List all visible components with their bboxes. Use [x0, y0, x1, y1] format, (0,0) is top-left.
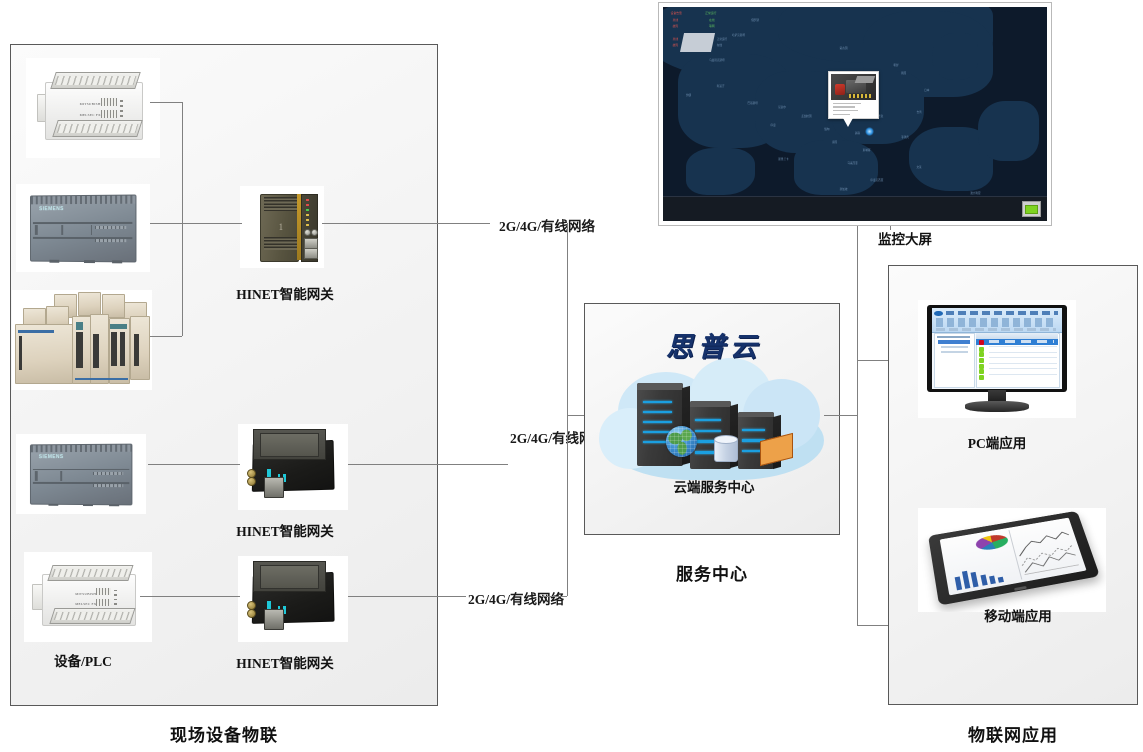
group-field-devices-caption: 现场设备物联 — [134, 721, 314, 746]
plc-mitsubishi-bottom: MITSUBISHI MELSEC FX3u-32MR — [24, 552, 152, 642]
plc-siemens-bottom: SIEMENS — [16, 434, 146, 514]
wall-map-label-19: 孟加拉国 — [801, 114, 811, 118]
diagram-canvas: 现场设备物联 MITSUBISHI MELSEC FX3u-32MR SIEME… — [0, 0, 1143, 752]
wall-map-label-0: 俄罗斯 — [751, 18, 759, 22]
wall-status-icon[interactable] — [1022, 201, 1041, 217]
wall-map-label-17: 伊朗 — [686, 93, 691, 97]
monitor-wall-screen[interactable]: 设备告警 离线 故障 正常运行 在线 联网 离线 故障 正常运行 在线 俄罗斯 … — [663, 7, 1047, 221]
wall-location-pin[interactable] — [865, 127, 874, 136]
pc-application-caption: PC端应用 — [952, 432, 1042, 452]
gateway-din-rail: 1 — [240, 186, 324, 268]
monitor-wall-caption: 监控大屏 — [850, 228, 960, 248]
database-icon — [714, 437, 738, 462]
wall-map-label-21: 柬埔寨 — [863, 148, 871, 152]
wall-map-label-13: 马来西亚 — [847, 161, 857, 165]
wire-plc5-to-gateway-c — [140, 596, 240, 597]
status-dot-online-1 — [979, 347, 984, 352]
wall-callout-tail — [843, 118, 853, 127]
link-top-line-a — [322, 223, 490, 224]
link-bottom-line-a — [348, 596, 466, 597]
gateway-box-bottom-caption: HINET智能网关 — [210, 652, 360, 672]
wall-map-label-5: 韩国 — [901, 71, 906, 75]
wall-map-label-1: 哈萨克斯坦 — [732, 33, 745, 37]
status-dot-online-6 — [979, 375, 984, 380]
status-dot-online-5 — [979, 369, 984, 374]
cloud-illustration: 思普云 云端服务中心 — [594, 318, 834, 498]
wall-legend-sub-2: 正常运行 — [717, 37, 727, 41]
status-dot-online-4 — [979, 364, 984, 369]
wall-map-label-15: 乌兹别克斯坦 — [709, 58, 725, 62]
tablet-device[interactable] — [928, 511, 1100, 606]
wall-legend-sub-3: 在线 — [717, 43, 722, 47]
wire-bus-to-gateway — [150, 223, 242, 224]
wall-map-label-25: 台湾 — [916, 110, 921, 114]
gateway-box-bottom — [238, 556, 348, 642]
app-trunk-vertical — [857, 225, 858, 625]
link-bottom-line-b — [541, 596, 567, 597]
wall-legend-green-0: 正常运行 — [705, 11, 716, 15]
wall-legend-green-2: 联网 — [709, 24, 715, 28]
wall-legend-green-1: 在线 — [709, 18, 715, 22]
status-dot-online-2 — [979, 352, 984, 357]
link-bottom-label: 2G/4G/有线网络 — [466, 588, 566, 608]
wall-map-label-6: 朝鲜 — [893, 63, 898, 67]
wall-map-label-9: 缅甸 — [824, 127, 829, 131]
link-bottom-riser — [567, 415, 568, 596]
cloud-service-center-caption: 云端服务中心 — [654, 476, 774, 496]
wall-legend-sub-0: 离线 — [673, 37, 679, 41]
wall-map-label-18: 尼泊尔 — [778, 105, 786, 109]
cloud-to-trunk — [824, 415, 857, 416]
link-top-down — [567, 223, 568, 415]
wall-map-label-16: 阿富汗 — [717, 84, 725, 88]
wall-map-label-4: 日本 — [924, 88, 929, 92]
wire-bus-vertical — [182, 102, 183, 336]
gateway-din-badge: 1 — [279, 222, 284, 232]
wire-plc4-to-gateway-b — [148, 464, 240, 465]
plc-group-caption: 设备/PLC — [28, 650, 138, 670]
wall-callout[interactable] — [828, 71, 879, 119]
plc-modular-rack — [12, 290, 152, 390]
wall-map-label-20: 斯里兰卡 — [778, 157, 788, 161]
pc-application-image — [918, 300, 1076, 418]
wall-map-label-10: 泰国 — [832, 140, 837, 144]
monitor-wall-frame: 设备告警 离线 故障 正常运行 在线 联网 离线 故障 正常运行 在线 俄罗斯 … — [658, 2, 1052, 226]
link-top-label: 2G/4G/有线网络 — [497, 215, 597, 235]
wire-plc3-to-bus — [150, 336, 182, 337]
wall-legend-red-0: 设备告警 — [671, 11, 682, 15]
gateway-box-middle-caption: HINET智能网关 — [210, 520, 360, 540]
wall-legend-red-2: 故障 — [673, 24, 679, 28]
wall-map-label-24: 文莱 — [916, 165, 921, 169]
group-iot-applications-caption: 物联网应用 — [923, 721, 1103, 746]
link-middle-line-a — [348, 464, 508, 465]
status-dot-online-3 — [979, 358, 984, 363]
wall-map-label-11: 越南 — [855, 131, 860, 135]
wall-legend-red-1: 离线 — [673, 18, 679, 22]
wall-map-label-23: 新加坡 — [840, 187, 848, 191]
mobile-application-image — [918, 508, 1106, 612]
wall-map-label-12: 菲律宾 — [901, 135, 909, 139]
wire-plc1-to-bus — [150, 102, 182, 103]
wall-legend-sub-1: 故障 — [673, 43, 679, 47]
mobile-application-caption: 移动端应用 — [968, 605, 1068, 625]
wall-map-label-8: 巴基斯坦 — [747, 101, 757, 105]
pc-app-screen[interactable] — [932, 308, 1063, 388]
status-dot-offline — [979, 340, 984, 345]
wall-map-label-2: 蒙古国 — [840, 46, 848, 50]
wall-map-label-7: 印度 — [771, 123, 776, 127]
plc-mitsubishi-top: MITSUBISHI MELSEC FX3u-32MR — [26, 58, 160, 158]
wall-map-label-26: 澳大利亚 — [970, 191, 980, 195]
group-service-center-caption: 服务中心 — [622, 560, 802, 585]
gateway-din-rail-caption: HINET智能网关 — [210, 283, 360, 303]
globe-icon — [666, 426, 697, 457]
gateway-box-middle — [238, 424, 348, 510]
plc-siemens-top: SIEMENS — [16, 184, 150, 272]
wall-map-label-14: 印度尼西亚 — [870, 178, 883, 182]
cloud-brand-logo: 思普云 — [666, 325, 762, 364]
